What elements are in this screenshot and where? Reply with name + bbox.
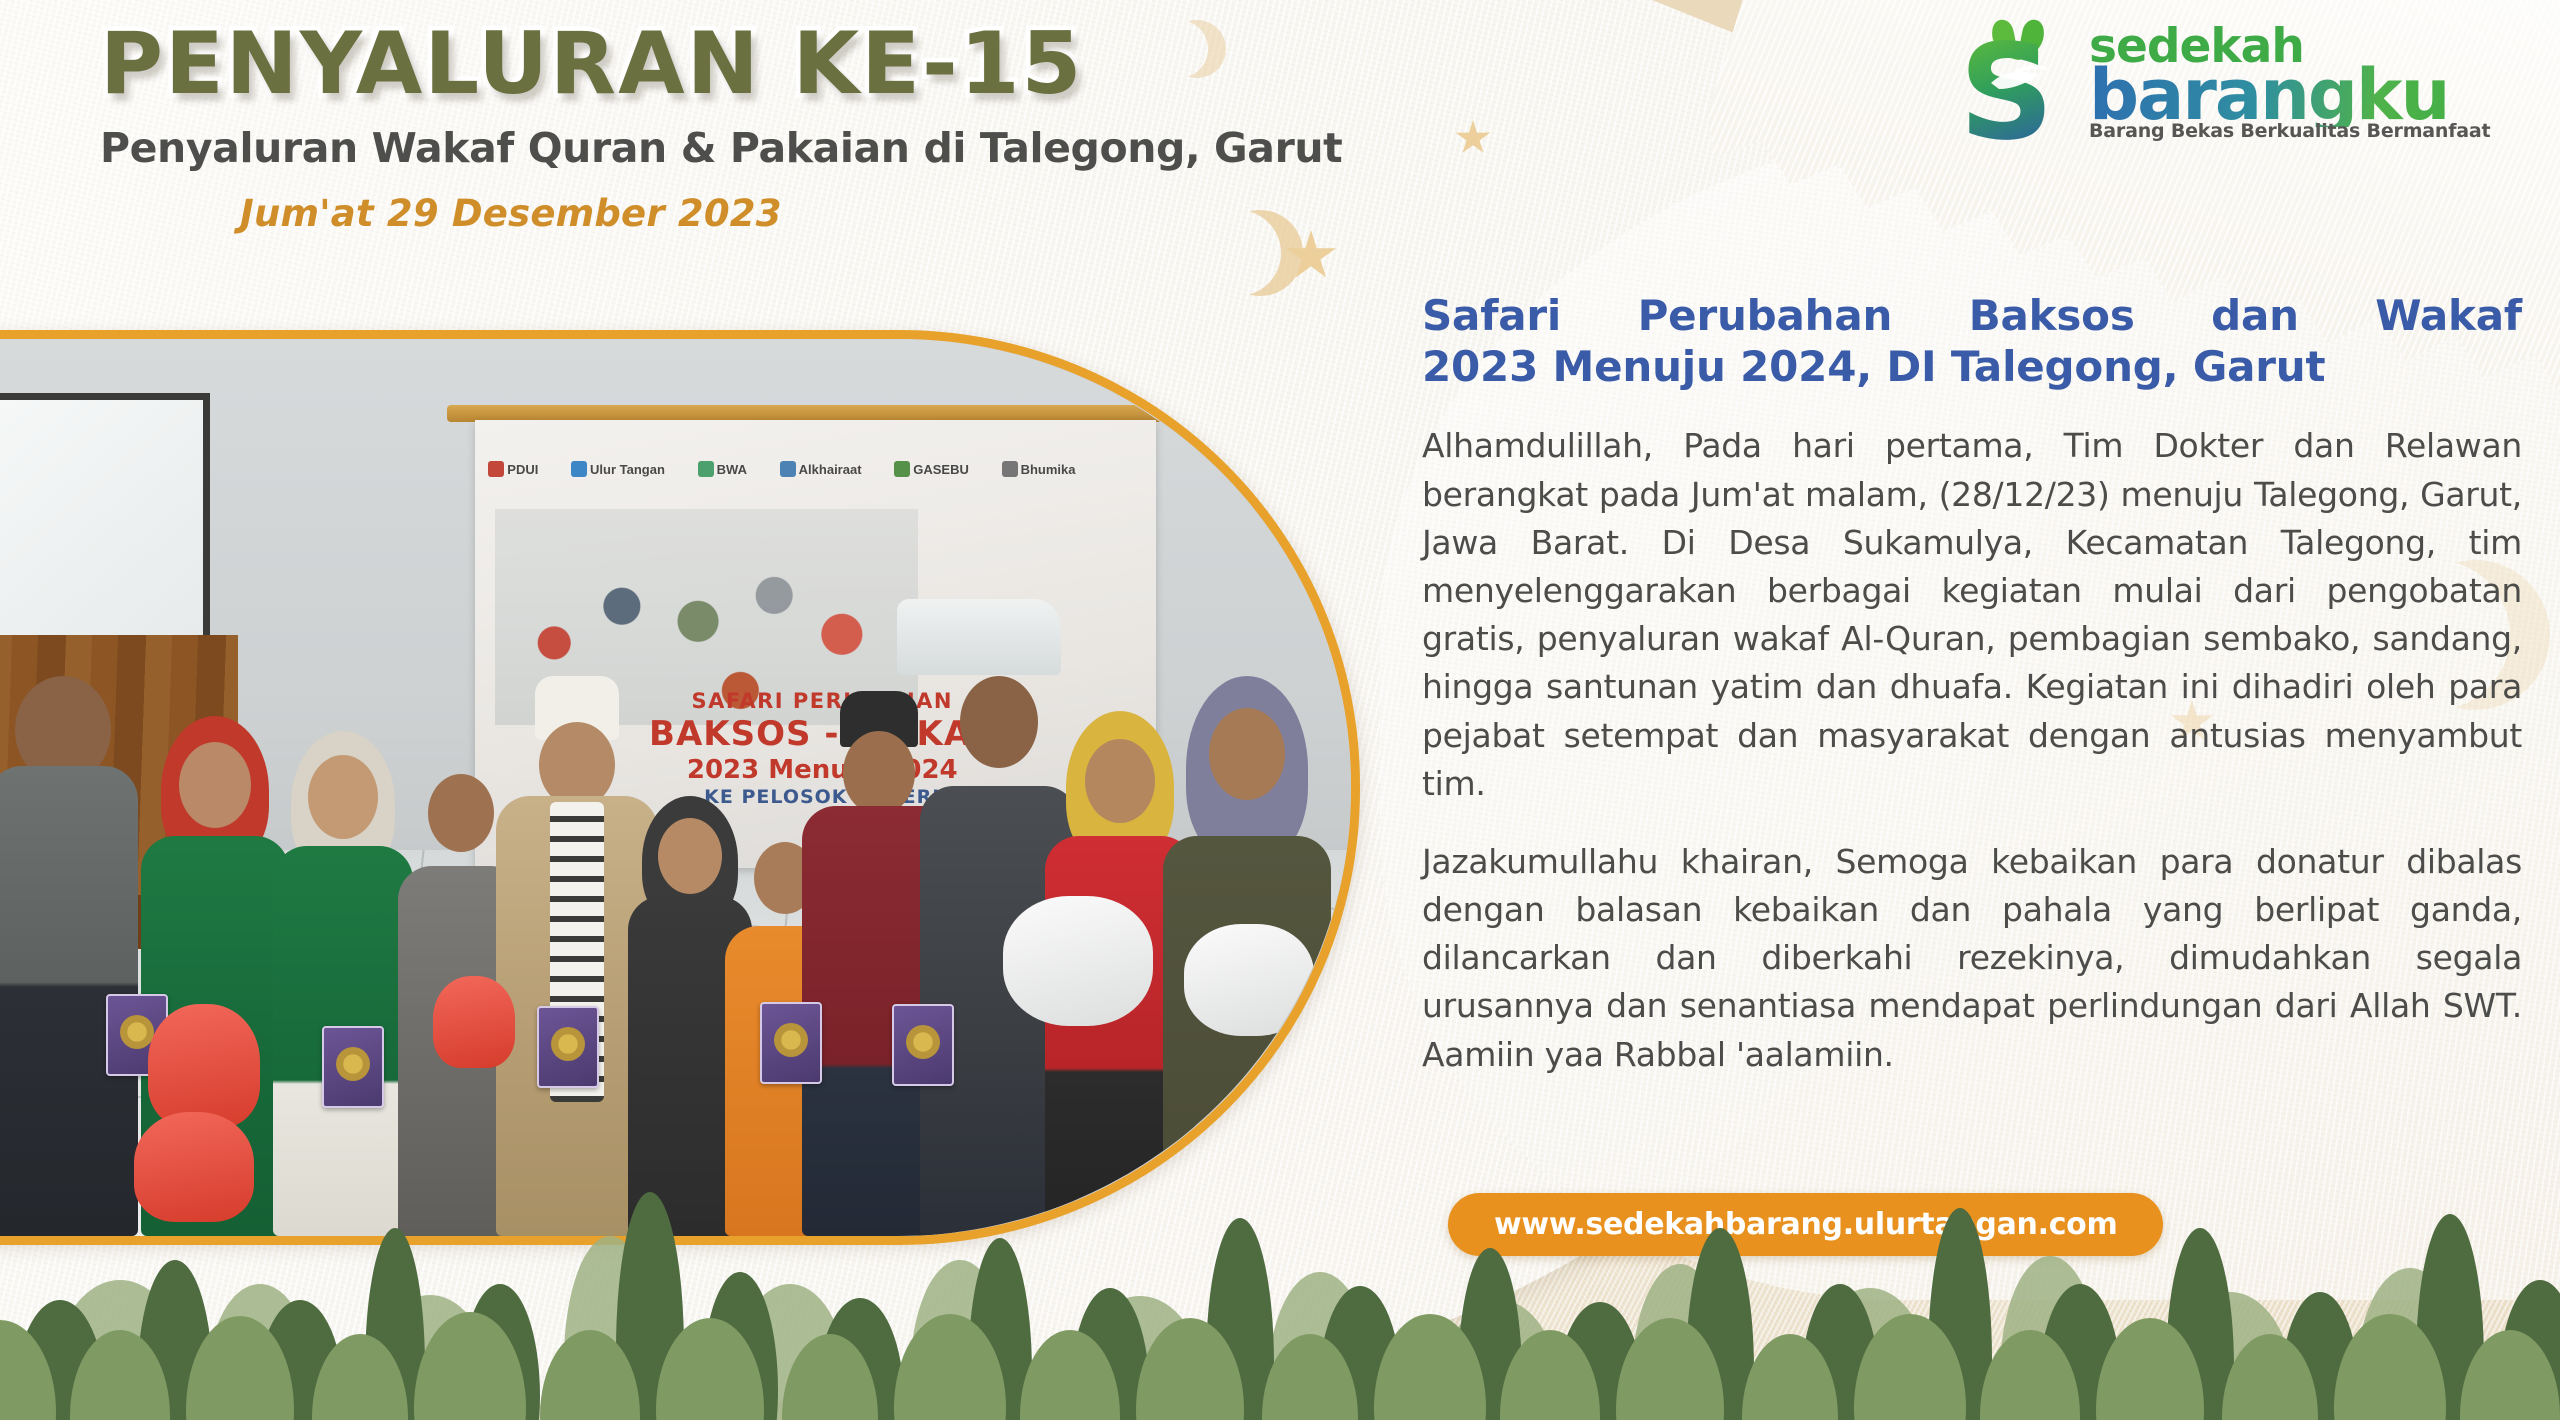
quran-book [892,1004,954,1086]
article-body: Alhamdulillah, Pada hari pertama, Tim Do… [1422,422,2522,1078]
sponsor-logo: Alkhairaat [780,461,862,477]
sponsor-logo: Ulur Tangan [571,461,665,477]
photo-banner-sponsors: PDUI Ulur Tangan BWA Alkhairaat GASEBU B… [488,438,1142,501]
photo-banner-vehicle [897,599,1061,675]
quran-book [537,1006,599,1088]
article-heading: Safari Perubahan Baksos dan Wakaf 2023 M… [1422,290,2522,392]
poster-header: PENYALURAN KE-15 Penyaluran Wakaf Quran … [100,14,1280,235]
article-paragraph: Alhamdulillah, Pada hari pertama, Tim Do… [1422,422,2522,807]
person-head [658,818,722,894]
page-title: PENYALURAN KE-15 [100,14,1280,114]
poster-canvas: PENYALURAN KE-15 Penyaluran Wakaf Quran … [0,0,2560,1420]
sponsor-logo: Bhumika [1002,461,1076,477]
logo-wordmark: sedekah barangku Barang Bekas Berkualita… [2089,25,2490,140]
brand-logo[interactable]: S sedekah barangku Barang Bekas Berkuali… [1955,8,2545,158]
photo-window [0,393,210,662]
article-paragraph: Jazakumullahu khairan, Semoga kebaikan p… [1422,838,2522,1079]
sponsor-logo: PDUI [488,461,538,477]
logo-word-barangku: barangku [2089,63,2490,127]
event-photo-image: PDUI Ulur Tangan BWA Alkhairaat GASEBU B… [0,339,1351,1236]
person-head [1209,708,1285,800]
clothing-bundle [1184,924,1314,1036]
logo-hand-icon [1955,17,2083,149]
logo-gift-s-icon: S [1955,17,2083,149]
page-subtitle: Penyaluran Wakaf Quran & Pakaian di Tale… [100,124,1280,172]
person-head [428,774,494,852]
red-plastic-bag [148,1004,260,1128]
photo-person [0,676,138,1236]
person-head [179,742,251,828]
article-column: Safari Perubahan Baksos dan Wakaf 2023 M… [1422,290,2522,1079]
person-head [308,755,378,839]
quran-book [760,1002,822,1084]
article-heading-line-1: Safari Perubahan Baksos dan Wakaf [1422,290,2522,341]
person-head [1085,739,1155,823]
clothing-bundle [1003,896,1153,1026]
logo-tagline: Barang Bekas Berkualitas Bermanfaat [2089,123,2490,140]
quran-book [322,1026,384,1108]
event-date: Jum'at 29 Desember 2023 [240,192,1280,235]
person-head [843,731,915,815]
sponsor-logo: GASEBU [894,461,969,477]
sponsor-logo: BWA [698,461,747,477]
person-body [1163,836,1331,1236]
article-heading-line-2: 2023 Menuju 2024, DI Talegong, Garut [1422,341,2522,392]
photo-person [273,731,413,1236]
decorative-foliage [0,1190,2560,1420]
red-plastic-bag [433,976,515,1068]
person-head [960,676,1038,768]
event-photo: PDUI Ulur Tangan BWA Alkhairaat GASEBU B… [0,330,1360,1245]
